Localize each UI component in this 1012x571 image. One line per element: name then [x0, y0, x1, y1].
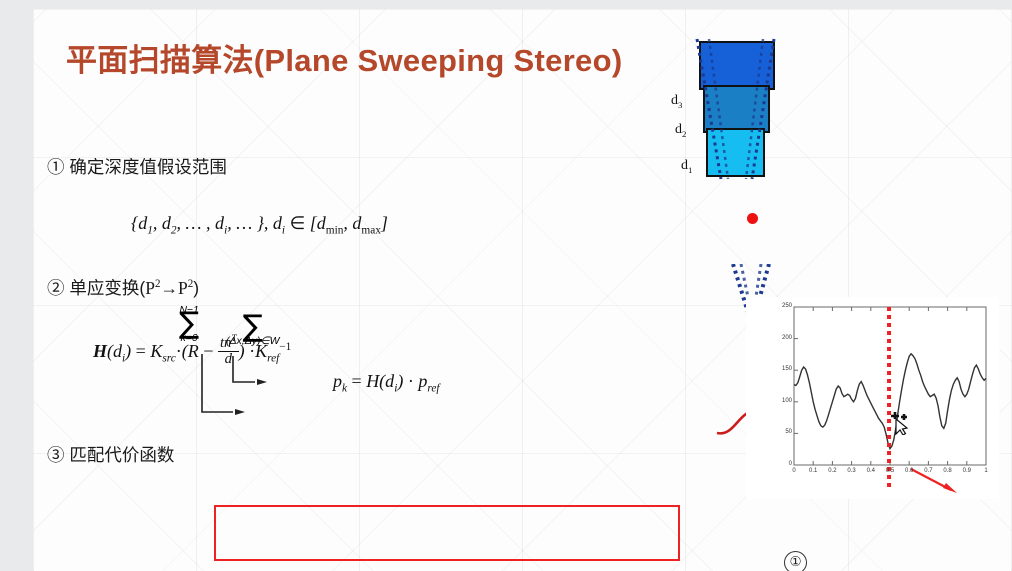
- chart-x-tick: 0.3: [844, 468, 860, 474]
- depth-label-d3: d3: [671, 93, 682, 110]
- step-2-heading: ② 单应变换(P2→P2): [47, 275, 1012, 300]
- reference-point-marker: [747, 213, 758, 224]
- chart-y-tick: 100: [777, 398, 792, 404]
- depth-label-d2-text: d: [675, 122, 682, 137]
- chart-x-tick: 0.4: [863, 468, 879, 474]
- marker-1: ①: [784, 551, 807, 571]
- chart-y-tick: 250: [777, 303, 792, 309]
- annotation-connectors: [193, 354, 303, 424]
- chart-y-tick: 200: [777, 335, 792, 341]
- chart-x-tick: 0.6: [901, 468, 917, 474]
- chart-y-tick: 50: [777, 429, 792, 435]
- chart-y-tick: 0: [777, 461, 792, 467]
- chart-x-tick: 0.9: [959, 468, 975, 474]
- depth-label-d2: d2: [675, 122, 686, 139]
- equation-depth-set: {d1, d2, … , di, … }, di ∈ [dmin, dmax]: [131, 213, 1012, 237]
- frustum-rays: [673, 31, 823, 181]
- page-title: 平面扫描算法(Plane Sweeping Stereo): [66, 35, 1012, 80]
- depth-label-d1-text: d: [681, 158, 688, 173]
- depth-label-d2-sub: 2: [682, 129, 686, 139]
- chart-x-tick: 1: [978, 468, 994, 474]
- depth-label-d3-text: d: [671, 93, 678, 108]
- chart-x-tick: 0.1: [805, 468, 821, 474]
- photo-consistency-chart: 050100150200250 00.10.20.30.40.50.60.70.…: [746, 297, 999, 499]
- depth-label-d1-sub: 1: [688, 165, 692, 175]
- sum-k: N−1∑k=0: [179, 305, 199, 343]
- mouse-cursor: [887, 409, 913, 440]
- chart-x-tick: 0: [786, 468, 802, 474]
- chart-y-tick: 150: [777, 366, 792, 372]
- chart-x-tick: 0.8: [940, 468, 956, 474]
- plane-sweep-frustum: d3 d2 d1: [673, 31, 823, 181]
- slide-canvas: 平面扫描算法(Plane Sweeping Stereo) ① 确定深度值假设范…: [33, 9, 1012, 571]
- chart-x-tick: 0.7: [920, 468, 936, 474]
- step-2-suffix: ): [193, 278, 199, 298]
- step-2-prefix: ② 单应变换(: [47, 278, 145, 298]
- chart-x-tick: 0.2: [824, 468, 840, 474]
- sum-window: ∑(Δx,Δy)∈W: [226, 308, 280, 346]
- chart-x-tick: 0.5: [882, 468, 898, 474]
- depth-label-d3-sub: 3: [678, 100, 682, 110]
- depth-label-d1: d1: [681, 158, 692, 175]
- cost-equation-highlight-box: [214, 505, 680, 561]
- step-1-heading: ① 确定深度值假设范围: [47, 154, 1012, 179]
